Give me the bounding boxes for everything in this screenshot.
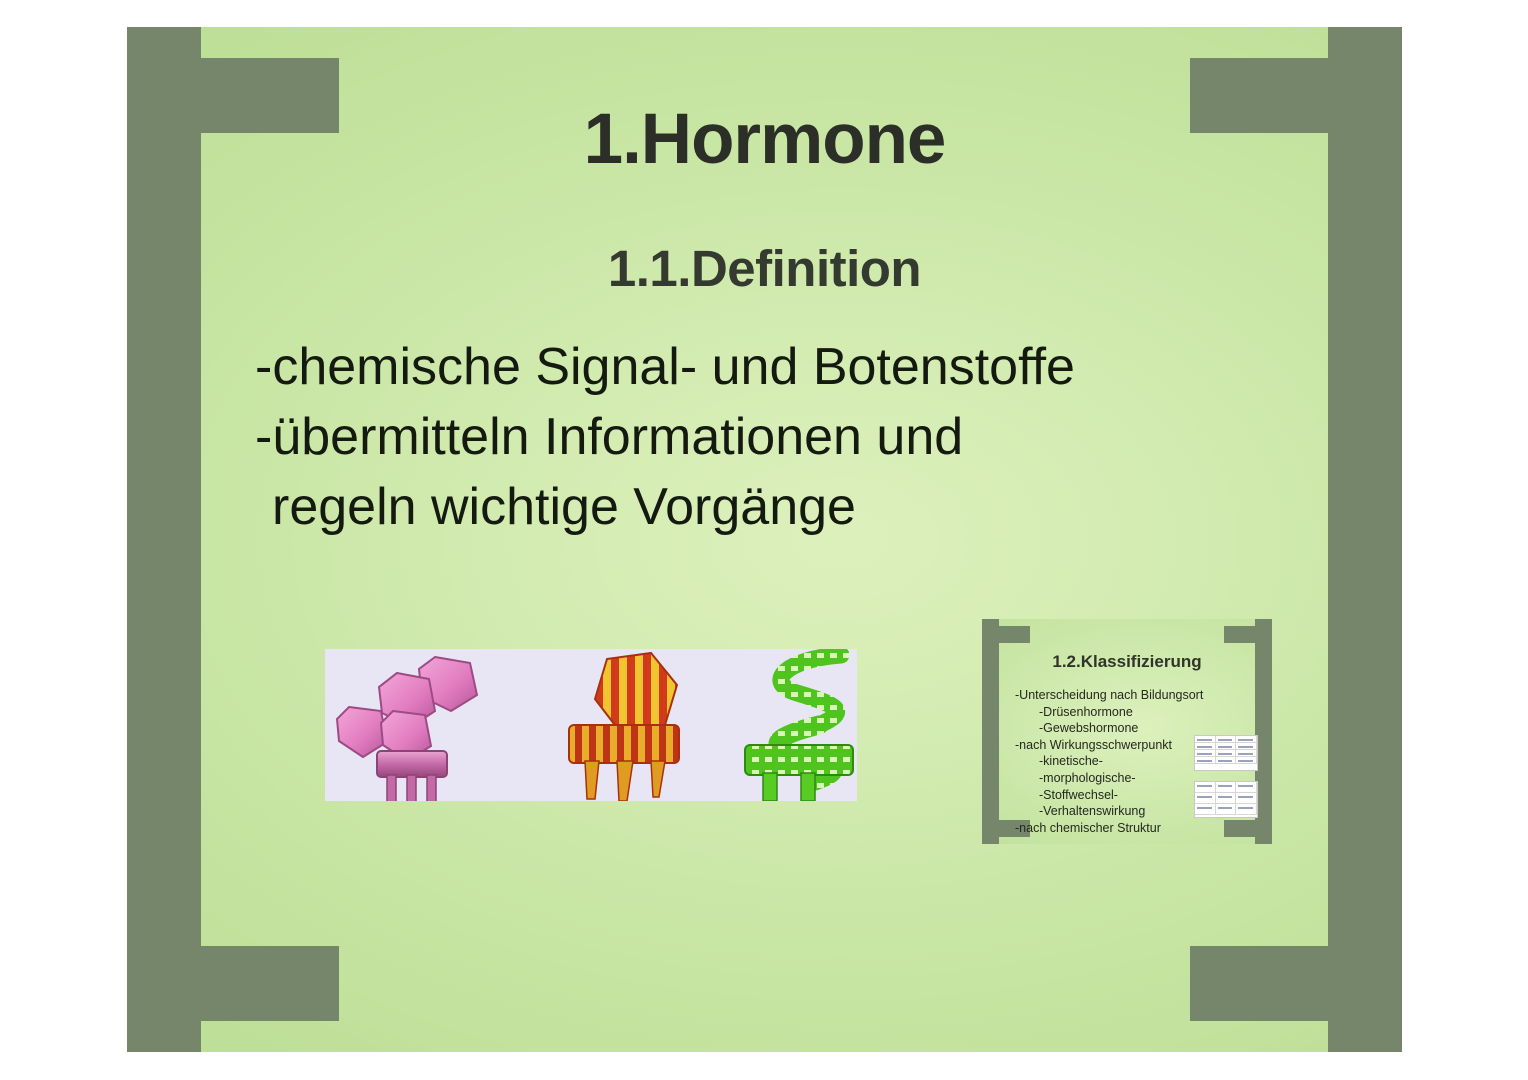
table-cell [1216, 782, 1237, 793]
frame-corner-bottom-left-icon [127, 946, 339, 1021]
table-cell [1195, 743, 1216, 750]
protein-helix-molecule-icon [723, 649, 893, 801]
molecule-image-strip [325, 649, 857, 801]
bullet-line-2: -übermitteln Informationen und [255, 402, 1295, 472]
table-cell [1216, 750, 1237, 757]
classification-table-top [1194, 735, 1258, 771]
definition-bullet-list: -chemische Signal- und Botenstoffe -über… [255, 332, 1295, 542]
steroid-hormone-molecule-icon [335, 649, 505, 801]
table-row [1195, 793, 1257, 804]
table-row [1195, 750, 1257, 757]
inset-slide-title: 1.2.Klassifizierung [982, 652, 1272, 672]
slide-subtitle: 1.1.Definition [127, 239, 1402, 298]
table-cell [1236, 750, 1257, 757]
table-cell [1195, 793, 1216, 804]
table-row [1195, 757, 1257, 764]
inset-slide-klassifizierung[interactable]: 1.2.Klassifizierung -Unterscheidung nach… [982, 619, 1272, 844]
table-cell [1236, 736, 1257, 743]
frame-right-band [1328, 27, 1402, 1052]
table-cell [1195, 804, 1216, 815]
peptide-hormone-molecule-icon [547, 649, 717, 801]
table-cell [1216, 736, 1237, 743]
inset-frame-corner-top-right-icon [1224, 626, 1272, 643]
frame-left-band [127, 27, 201, 1052]
slide-title: 1.Hormone [127, 99, 1402, 180]
table-row [1195, 782, 1257, 793]
screenshot-canvas: 1.Hormone 1.1.Definition -chemische Sign… [0, 0, 1528, 1080]
table-cell [1236, 757, 1257, 764]
table-cell [1195, 782, 1216, 793]
table-cell [1195, 750, 1216, 757]
table-cell [1195, 736, 1216, 743]
table-cell [1236, 793, 1257, 804]
frame-corner-bottom-right-icon [1190, 946, 1402, 1021]
table-cell [1216, 743, 1237, 750]
bullet-line-1: -chemische Signal- und Botenstoffe [255, 332, 1295, 402]
inset-bullet-1: -Unterscheidung nach Bildungsort [1015, 687, 1245, 704]
table-cell [1216, 757, 1237, 764]
table-cell [1195, 757, 1216, 764]
table-cell [1236, 743, 1257, 750]
inset-bullet-9: -nach chemischer Struktur [1015, 820, 1245, 837]
table-row [1195, 736, 1257, 743]
table-row [1195, 804, 1257, 815]
table-cell [1216, 793, 1237, 804]
table-cell [1216, 804, 1237, 815]
inset-bullet-2: -Drüsenhormone [1015, 704, 1245, 721]
classification-table-bottom [1194, 781, 1258, 818]
inset-frame-corner-top-left-icon [982, 626, 1030, 643]
table-cell [1236, 804, 1257, 815]
bullet-line-3: regeln wichtige Vorgänge [255, 472, 1295, 542]
table-row [1195, 743, 1257, 750]
presentation-slide: 1.Hormone 1.1.Definition -chemische Sign… [127, 27, 1402, 1052]
table-cell [1236, 782, 1257, 793]
